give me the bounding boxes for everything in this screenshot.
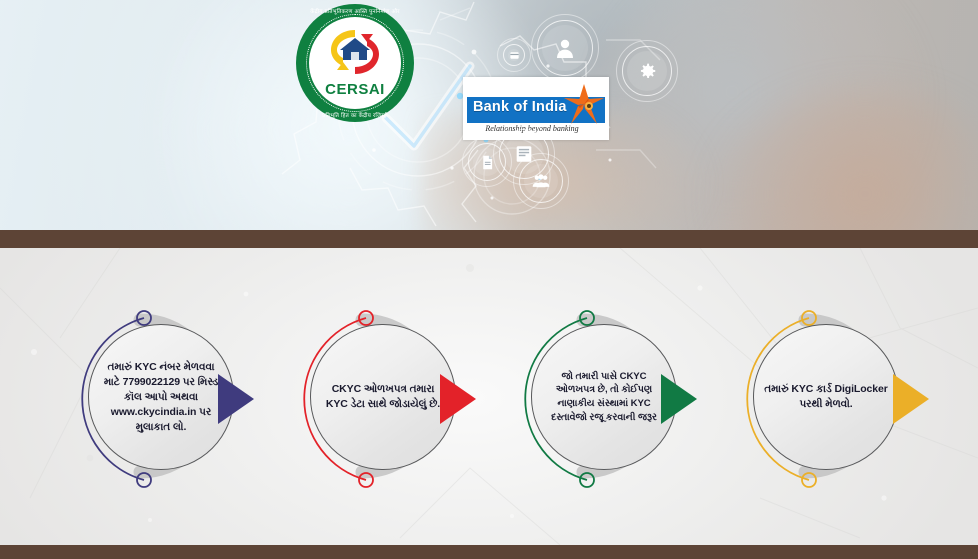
steps-section: તમારું KYC નંબર મેળવવા માટે 7799022129 પ… [0,248,978,545]
card-icon-badge [503,44,525,66]
step-arrow-1 [216,372,256,426]
cersai-logo: CERSAI केंद्रीय प्रतिभूतिकरण आस्ति पुनर्… [296,4,414,122]
page-root: CERSAI केंद्रीय प्रतिभूतिकरण आस्ति पुनर्… [0,0,978,559]
hero-banner: CERSAI केंद्रीय प्रतिभूतिकरण आस्ति पुनर्… [0,0,978,230]
step-arrow-3 [659,372,699,426]
book-icon [513,143,535,165]
cersai-ring-text-top: केंद्रीय प्रतिभूतिकरण आस्ति पुनर्निर्माण… [296,7,414,15]
step-circle-2[interactable]: CKYC ઓળખપત્ર તમારા KYC ડેટા સાથે જોડાયેલ… [310,324,456,470]
divider-bar-top [0,230,978,248]
step-text-4: તમારું KYC કાર્ડ DigiLocker પરથી મેળવો. [764,382,888,412]
file-icon [479,154,496,171]
step-item-3[interactable]: જો તમારી પાસે CKYC ઓળખપત્ર છે, તો કોઈપણ … [493,248,693,545]
file-icon-badge [468,143,506,181]
bank-name-text: Bank of India [473,99,567,115]
cersai-emblem-icon [325,26,385,78]
step-circle-1[interactable]: તમારું KYC નંબર મેળવવા માટે 7799022129 પ… [88,324,234,470]
step-item-2[interactable]: CKYC ઓળખપત્ર તમારા KYC ડેટા સાથે જોડાયેલ… [272,248,472,545]
step-circle-4[interactable]: તમારું KYC કાર્ડ DigiLocker પરથી મેળવો. [753,324,899,470]
bank-star-icon [562,82,606,126]
step-text-3: જો તમારી પાસે CKYC ઓળખપત્ર છે, તો કોઈપણ … [542,370,666,424]
step-text-2: CKYC ઓળખપત્ર તમારા KYC ડેટા સાથે જોડાયેલ… [321,382,445,412]
people-icon [531,171,551,191]
user-icon-badge [537,20,593,76]
cersai-wordmark: CERSAI [296,81,414,98]
step-item-4[interactable]: તમારું KYC કાર્ડ DigiLocker પરથી મેળવો. [715,248,915,545]
gear-icon-badge [622,46,672,96]
step-circle-3[interactable]: જો તમારી પાસે CKYC ઓળખપત્ર છે, તો કોઈપણ … [531,324,677,470]
step-arrow-2 [438,372,478,426]
step-arrow-4 [891,372,931,426]
step-item-1[interactable]: તમારું KYC નંબર મેળવવા માટે 7799022129 પ… [50,248,250,545]
step-text-1: તમારું KYC નંબર મેળવવા માટે 7799022129 પ… [99,360,223,435]
card-icon [509,50,520,61]
divider-bar-bottom [0,545,978,559]
people-icon-badge [519,159,563,203]
gear-icon [636,60,658,82]
cersai-ring-text-bottom: प्रतिभूति हित का केंद्रीय रजिस्ट्री [296,111,414,119]
user-icon [553,36,577,60]
